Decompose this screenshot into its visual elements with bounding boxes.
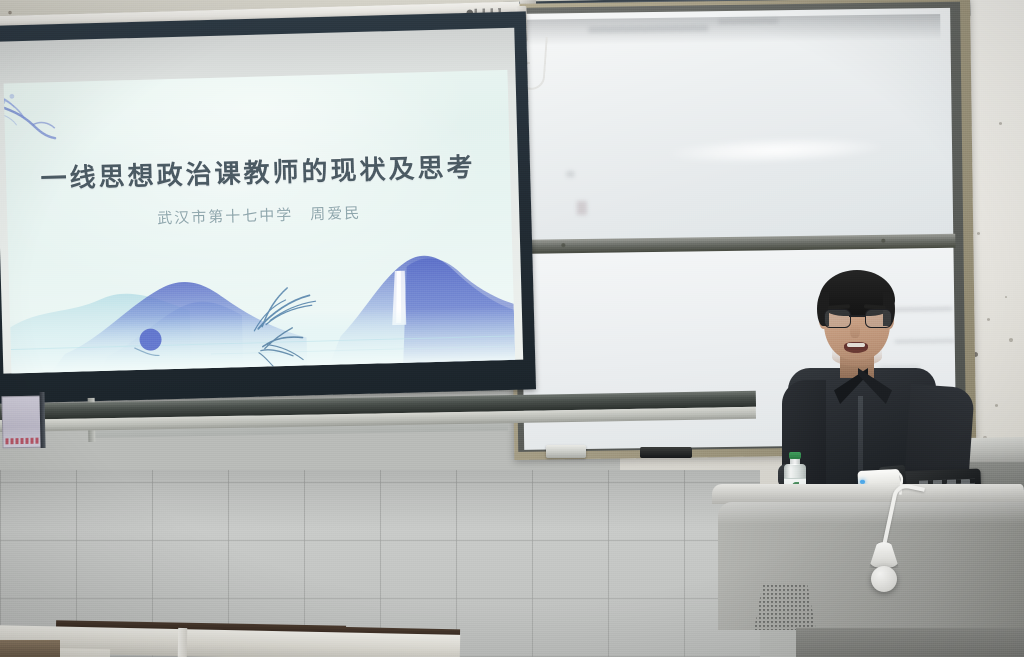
lectern-top [712, 484, 1024, 504]
presenter-nose [850, 324, 860, 338]
classroom-scene: 一线思想政治课教师的现状及思考 武汉市第十七中学 周爱民 [0, 0, 1024, 657]
ink-landscape-illustration [7, 210, 515, 374]
whiteboard-glare [670, 135, 881, 166]
bottle-cap[interactable] [789, 452, 801, 459]
microphone-base-disc[interactable] [871, 566, 897, 592]
speaker-grille [754, 584, 816, 630]
presenter-chin [832, 348, 882, 366]
desk-shadow [0, 640, 60, 657]
whiteboard-eraser[interactable] [546, 445, 586, 458]
plum-branch-icon [4, 83, 118, 166]
whiteboard-surface-upper [518, 8, 953, 242]
marker-black[interactable] [640, 447, 692, 458]
eyeglasses-bridge [849, 315, 865, 317]
lectern [712, 484, 1024, 657]
lectern-base [796, 628, 1024, 657]
wall-shadow [0, 470, 760, 530]
lectern-front-panel [718, 502, 1024, 630]
eyeglasses-right-lens [865, 309, 892, 328]
wall-notice [1, 396, 42, 449]
eyeglasses-left-lens [824, 309, 851, 328]
projection-screen: 一线思想政治课教师的现状及思考 武汉市第十七中学 周爱民 [0, 11, 536, 403]
presentation-slide: 一线思想政治课教师的现状及思考 武汉市第十七中学 周爱民 [4, 70, 516, 374]
desk-leg [178, 628, 188, 657]
